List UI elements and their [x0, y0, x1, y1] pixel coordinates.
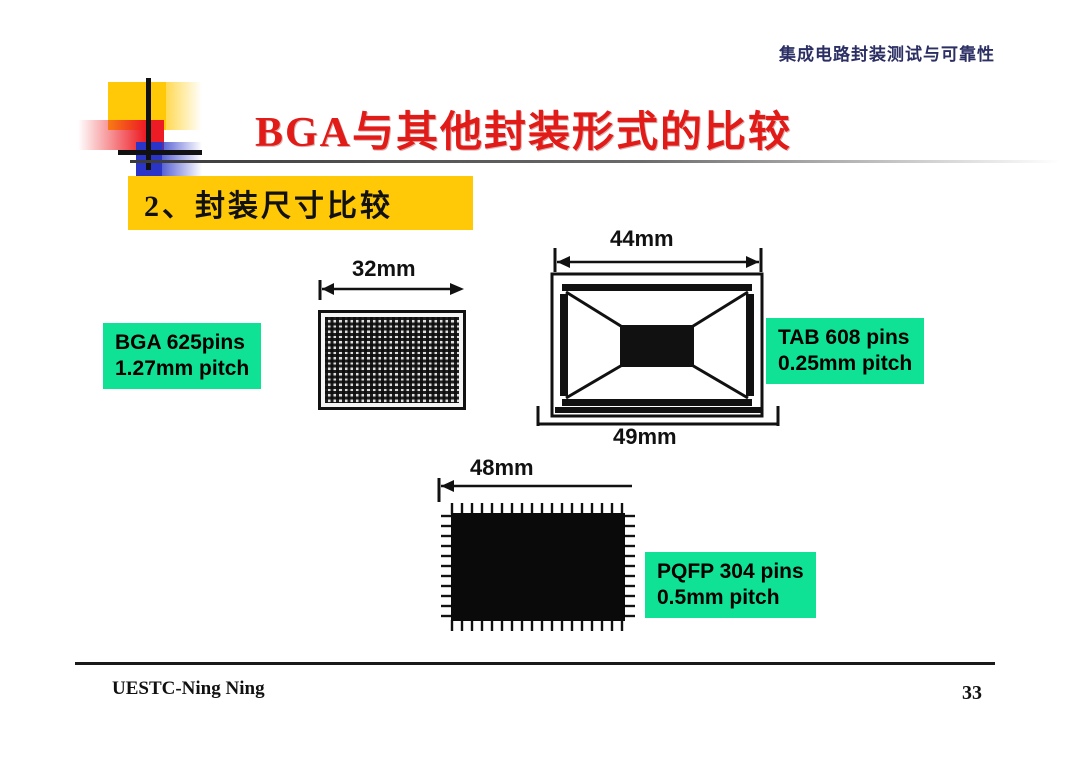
- footer-author: UESTC-Ning Ning: [112, 678, 265, 700]
- tab-label-line2: 0.25mm pitch: [778, 351, 912, 377]
- bga-ball-grid-array: [325, 317, 459, 403]
- pqfp-callout-label: PQFP 304 pins 0.5mm pitch: [645, 552, 816, 618]
- pqfp-label-line2: 0.5mm pitch: [657, 585, 804, 611]
- tab-bottom-dimension-label: 49mm: [613, 424, 677, 450]
- pqfp-package-body: [451, 513, 625, 621]
- decorative-corner-graphic: [78, 78, 200, 170]
- title-underline-rule: [130, 160, 1060, 163]
- pqfp-package-image: [438, 500, 638, 634]
- bga-dimension-arrow: [318, 280, 468, 302]
- footer-page-number: 33: [962, 682, 982, 705]
- course-header-title: 集成电路封装测试与可靠性: [779, 40, 995, 65]
- section-subtitle-box: 2、封装尺寸比较: [128, 176, 473, 230]
- slide-canvas: 集成电路封装测试与可靠性 BGA与其他封装形式的比较 2、封装尺寸比较 32mm…: [0, 0, 1080, 763]
- bga-package-image: [318, 310, 466, 410]
- bga-label-line1: BGA 625pins: [115, 330, 249, 356]
- tab-label-line1: TAB 608 pins: [778, 325, 912, 351]
- deco-vertical-line: [146, 78, 151, 170]
- deco-horizontal-line: [118, 150, 202, 155]
- bga-package-body: [318, 310, 466, 410]
- tab-top-dimension-arrow: [552, 248, 767, 274]
- bga-label-line2: 1.27mm pitch: [115, 356, 249, 382]
- tab-package-image: [548, 272, 766, 418]
- tab-callout-label: TAB 608 pins 0.25mm pitch: [766, 318, 924, 384]
- slide-title: BGA与其他封装形式的比较: [255, 98, 792, 159]
- pqfp-label-line1: PQFP 304 pins: [657, 559, 804, 585]
- pqfp-dimension-arrow: [436, 478, 636, 502]
- footer-divider-rule: [75, 662, 995, 665]
- section-subtitle-label: 2、封装尺寸比较: [128, 181, 393, 225]
- bga-dimension-label: 32mm: [352, 256, 416, 282]
- bga-callout-label: BGA 625pins 1.27mm pitch: [103, 323, 261, 389]
